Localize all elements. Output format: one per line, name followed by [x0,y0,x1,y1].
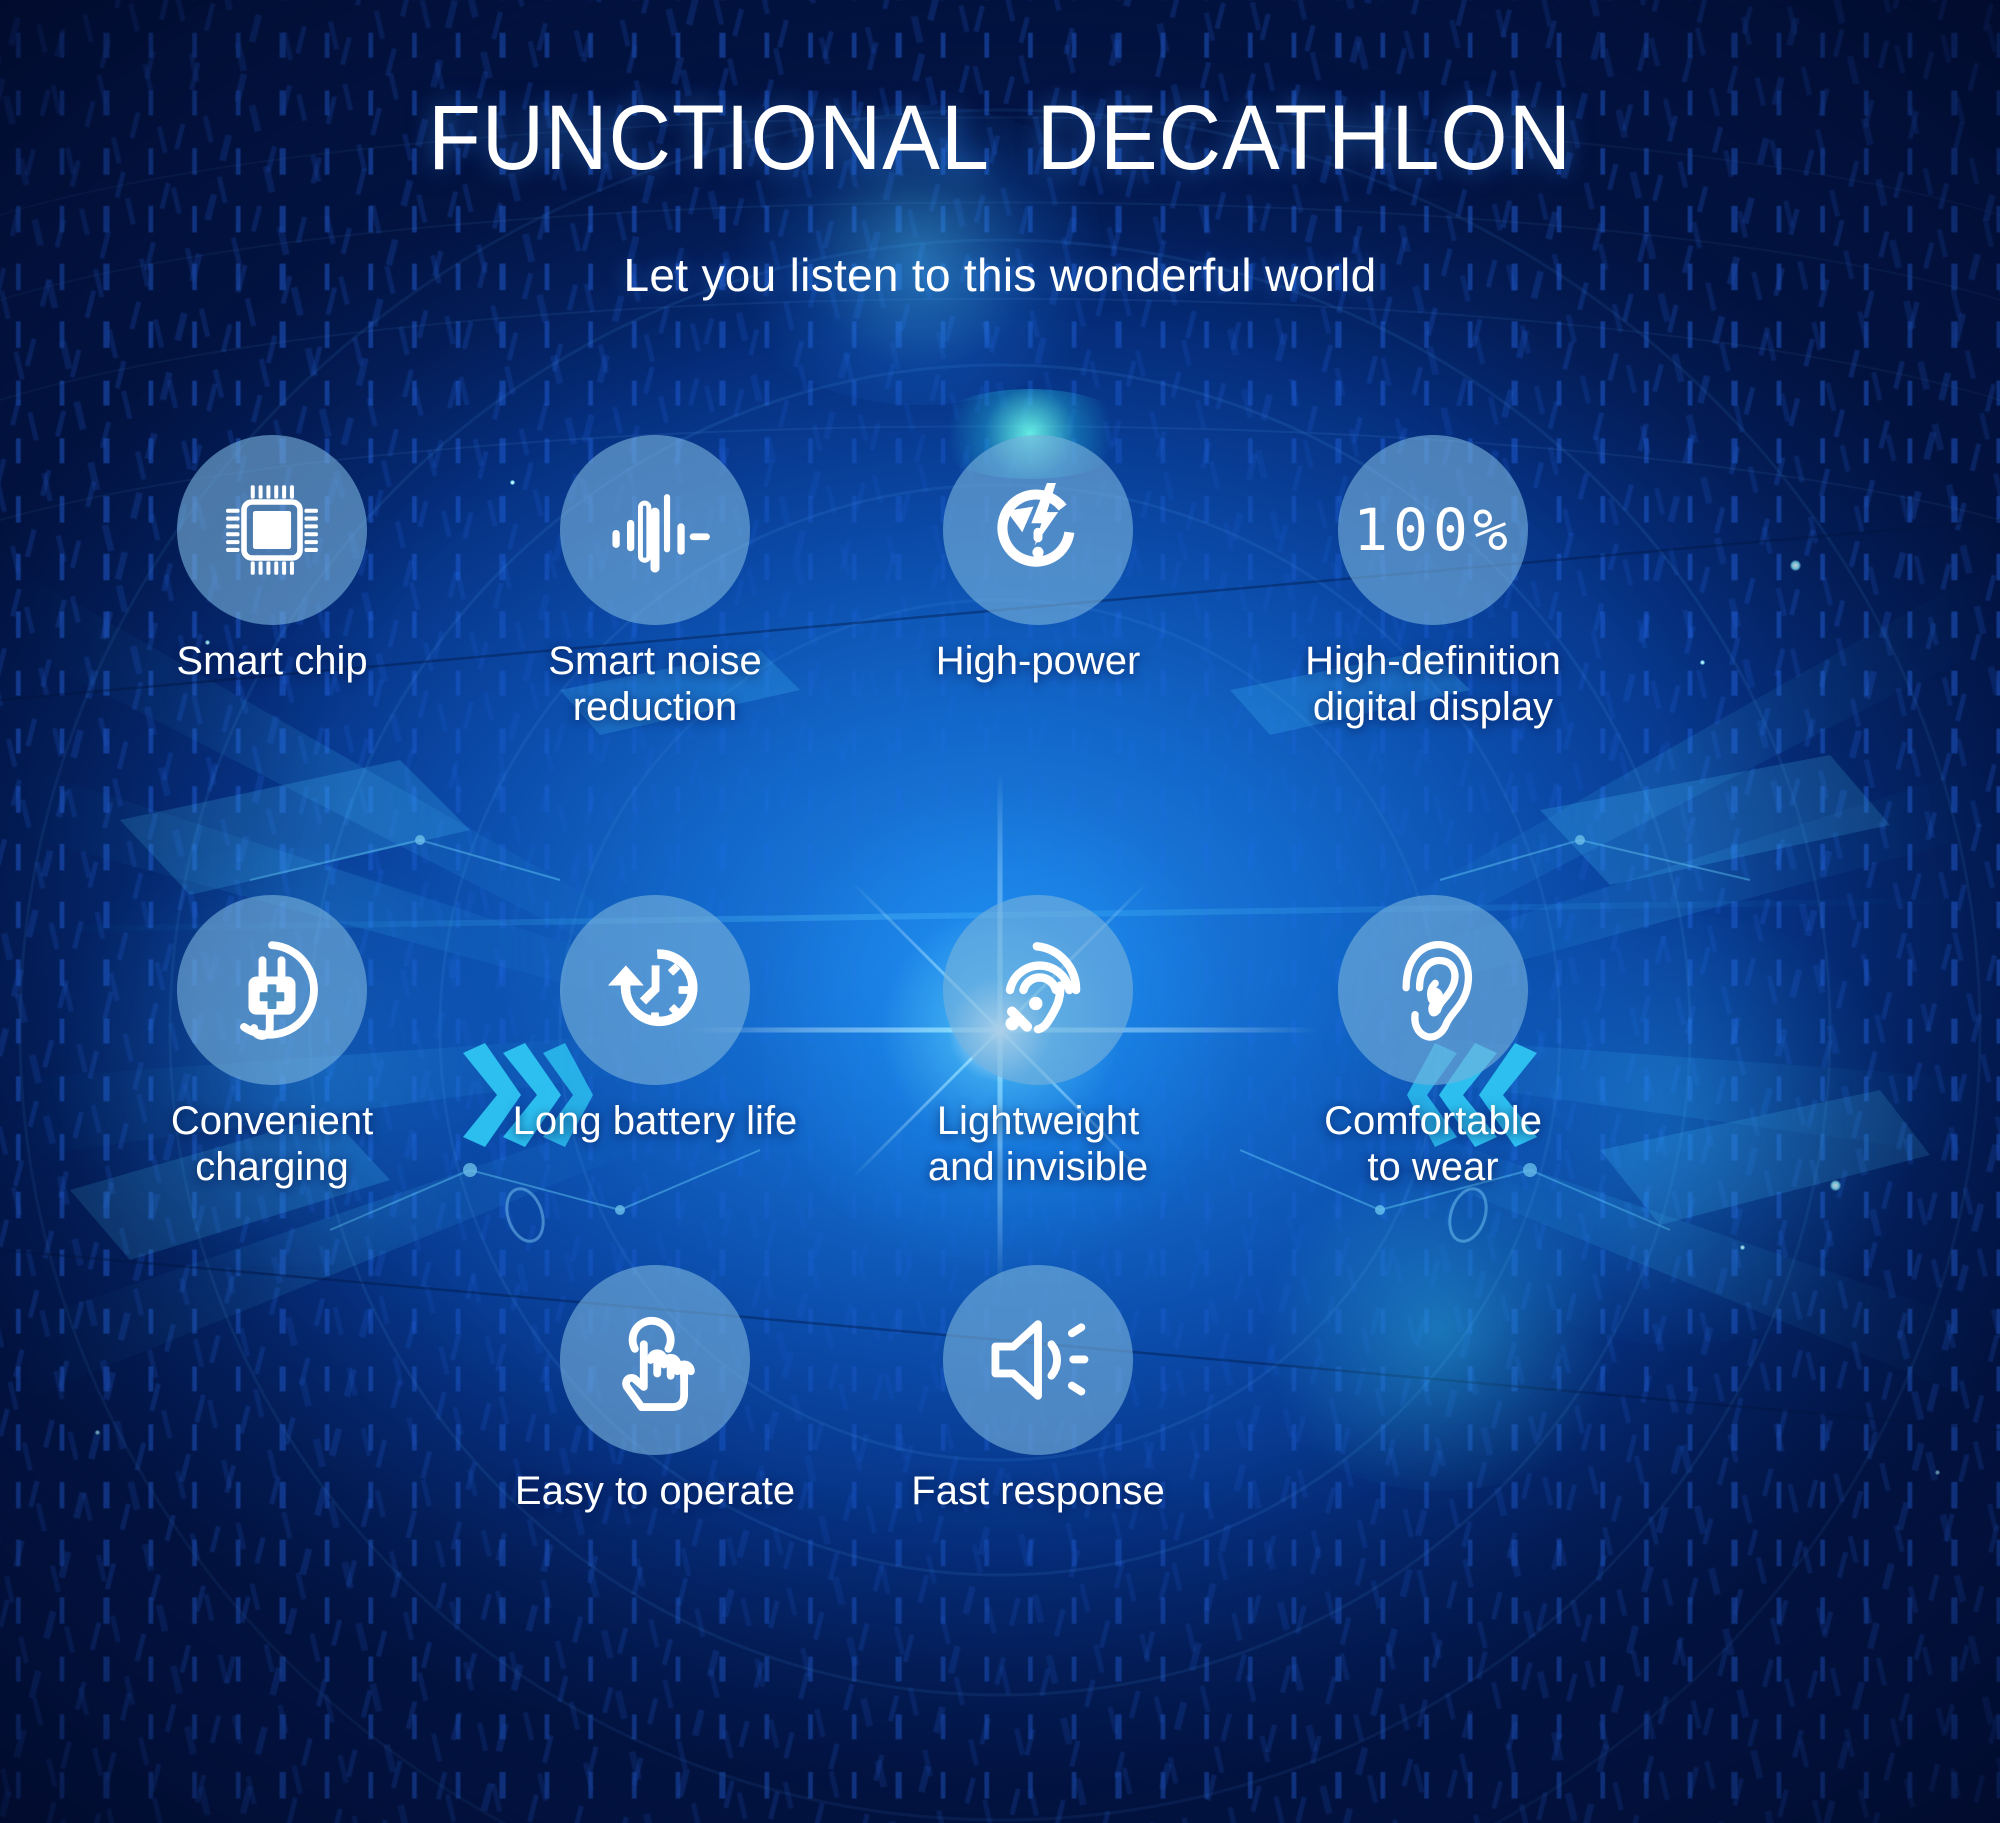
ear-icon [1377,934,1489,1046]
power-bolt-icon [982,474,1094,586]
feature-label: Long battery life [505,1099,805,1145]
hearing-aid-icon [982,934,1094,1046]
chip-icon [216,474,328,586]
feature-icon-circle: 100% [1338,435,1528,625]
feature-long-battery-life[interactable]: Long battery life [505,895,805,1145]
waveform-icon [599,474,711,586]
feature-smart-noise-reduction[interactable]: Smart noise reduction [505,435,805,730]
tap-gesture-icon [599,1304,711,1416]
feature-icon-circle [943,1265,1133,1455]
feature-icon-circle [560,435,750,625]
feature-label: Smart chip [122,639,422,685]
feature-smart-chip[interactable]: Smart chip [122,435,422,685]
feature-label: Convenient charging [122,1099,422,1190]
feature-label: Comfortable to wear [1283,1099,1583,1190]
feature-fast-response[interactable]: Fast response [888,1265,1188,1515]
feature-icon-circle [560,1265,750,1455]
page-subtitle: Let you listen to this wonderful world [0,250,2000,301]
page-title: FUNCTIONAL DECATHLON [60,92,1940,184]
feature-icon-circle [943,435,1133,625]
feature-comfortable-to-wear[interactable]: Comfortable to wear [1283,895,1583,1190]
feature-label: High-power [888,639,1188,685]
feature-convenient-charging[interactable]: Convenient charging [122,895,422,1190]
feature-easy-to-operate[interactable]: Easy to operate [505,1265,805,1515]
clock-rewind-icon [599,934,711,1046]
feature-icon-circle [943,895,1133,1085]
feature-hd-digital-display[interactable]: 100% High-definition digital display [1283,435,1583,730]
feature-icon-circle [560,895,750,1085]
feature-high-power[interactable]: High-power [888,435,1188,685]
percent-100-icon: 100% [1353,496,1513,564]
feature-icon-circle [177,435,367,625]
feature-label: Lightweight and invisible [888,1099,1188,1190]
content-layer: FUNCTIONAL DECATHLON Let you listen to t… [0,0,2000,1823]
feature-label: Smart noise reduction [505,639,805,730]
feature-label: Fast response [888,1469,1188,1515]
feature-icon-circle [177,895,367,1085]
feature-lightweight-invisible[interactable]: Lightweight and invisible [888,895,1188,1190]
feature-label: Easy to operate [505,1469,805,1515]
speaker-sound-icon [982,1304,1094,1416]
feature-label: High-definition digital display [1283,639,1583,730]
feature-icon-circle [1338,895,1528,1085]
plug-charge-icon [216,934,328,1046]
